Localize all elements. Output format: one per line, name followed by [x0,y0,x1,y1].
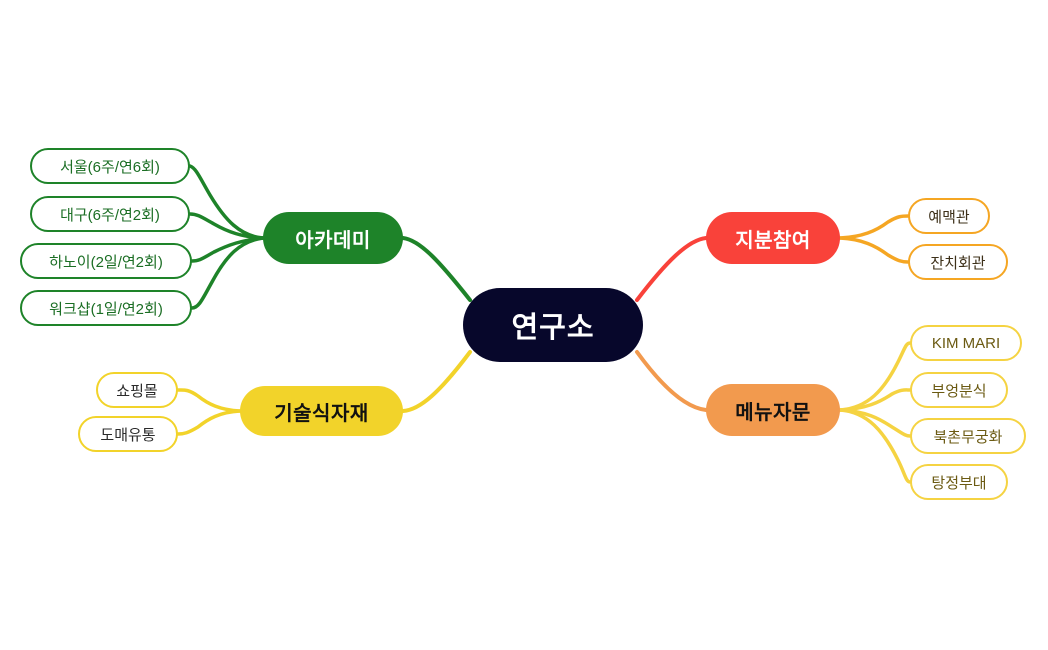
edge-supply-to-mall [178,390,240,411]
leaf-node-menu-bukchon-mugunghwa[interactable]: 북촌무궁화 [910,418,1026,454]
edge-root-to-equity [637,238,706,300]
edge-supply-to-wholesale [178,411,240,434]
branch-node-equity[interactable]: 지분참여 [706,212,840,264]
leaf-node-menu-bueong-bunsik[interactable]: 부엉분식 [910,372,1008,408]
branch-node-menu-consulting[interactable]: 메뉴자문 [706,384,840,436]
edge-menu-to-bueong [840,390,910,410]
leaf-node-menu-kim-mari[interactable]: KIM MARI [910,325,1022,361]
edge-root-to-academy [403,238,470,300]
mindmap-canvas: 연구소 아카데미 서울(6주/연6회) 대구(6주/연2회) 하노이(2일/연2… [0,0,1048,650]
branch-node-academy[interactable]: 아카데미 [263,212,403,264]
edge-academy-to-seoul [190,166,263,238]
edge-academy-to-daegu [190,214,263,238]
leaf-node-equity-yemaekgwan[interactable]: 예맥관 [908,198,990,234]
edge-root-to-menu [637,352,706,410]
edge-equity-to-janchi [840,238,908,262]
leaf-node-equity-janchi-hall[interactable]: 잔치회관 [908,244,1008,280]
leaf-node-academy-seoul[interactable]: 서울(6주/연6회) [30,148,190,184]
edge-menu-to-tangjeong [840,410,910,482]
root-node-research-lab[interactable]: 연구소 [463,288,643,362]
edge-menu-to-bukchon [840,410,910,436]
edge-menu-to-kimmari [840,343,910,410]
edge-academy-to-workshop [192,238,263,308]
leaf-node-supply-wholesale[interactable]: 도매유통 [78,416,178,452]
leaf-node-academy-daegu[interactable]: 대구(6주/연2회) [30,196,190,232]
edge-root-to-supply [403,352,470,411]
leaf-node-supply-shopping-mall[interactable]: 쇼핑몰 [96,372,178,408]
edge-academy-to-hanoi [192,238,263,261]
branch-node-supply[interactable]: 기술식자재 [240,386,403,436]
leaf-node-academy-workshop[interactable]: 워크샵(1일/연2회) [20,290,192,326]
edge-equity-to-yemaekgwan [840,216,908,238]
leaf-node-academy-hanoi[interactable]: 하노이(2일/연2회) [20,243,192,279]
leaf-node-menu-tangjeong-budae[interactable]: 탕정부대 [910,464,1008,500]
